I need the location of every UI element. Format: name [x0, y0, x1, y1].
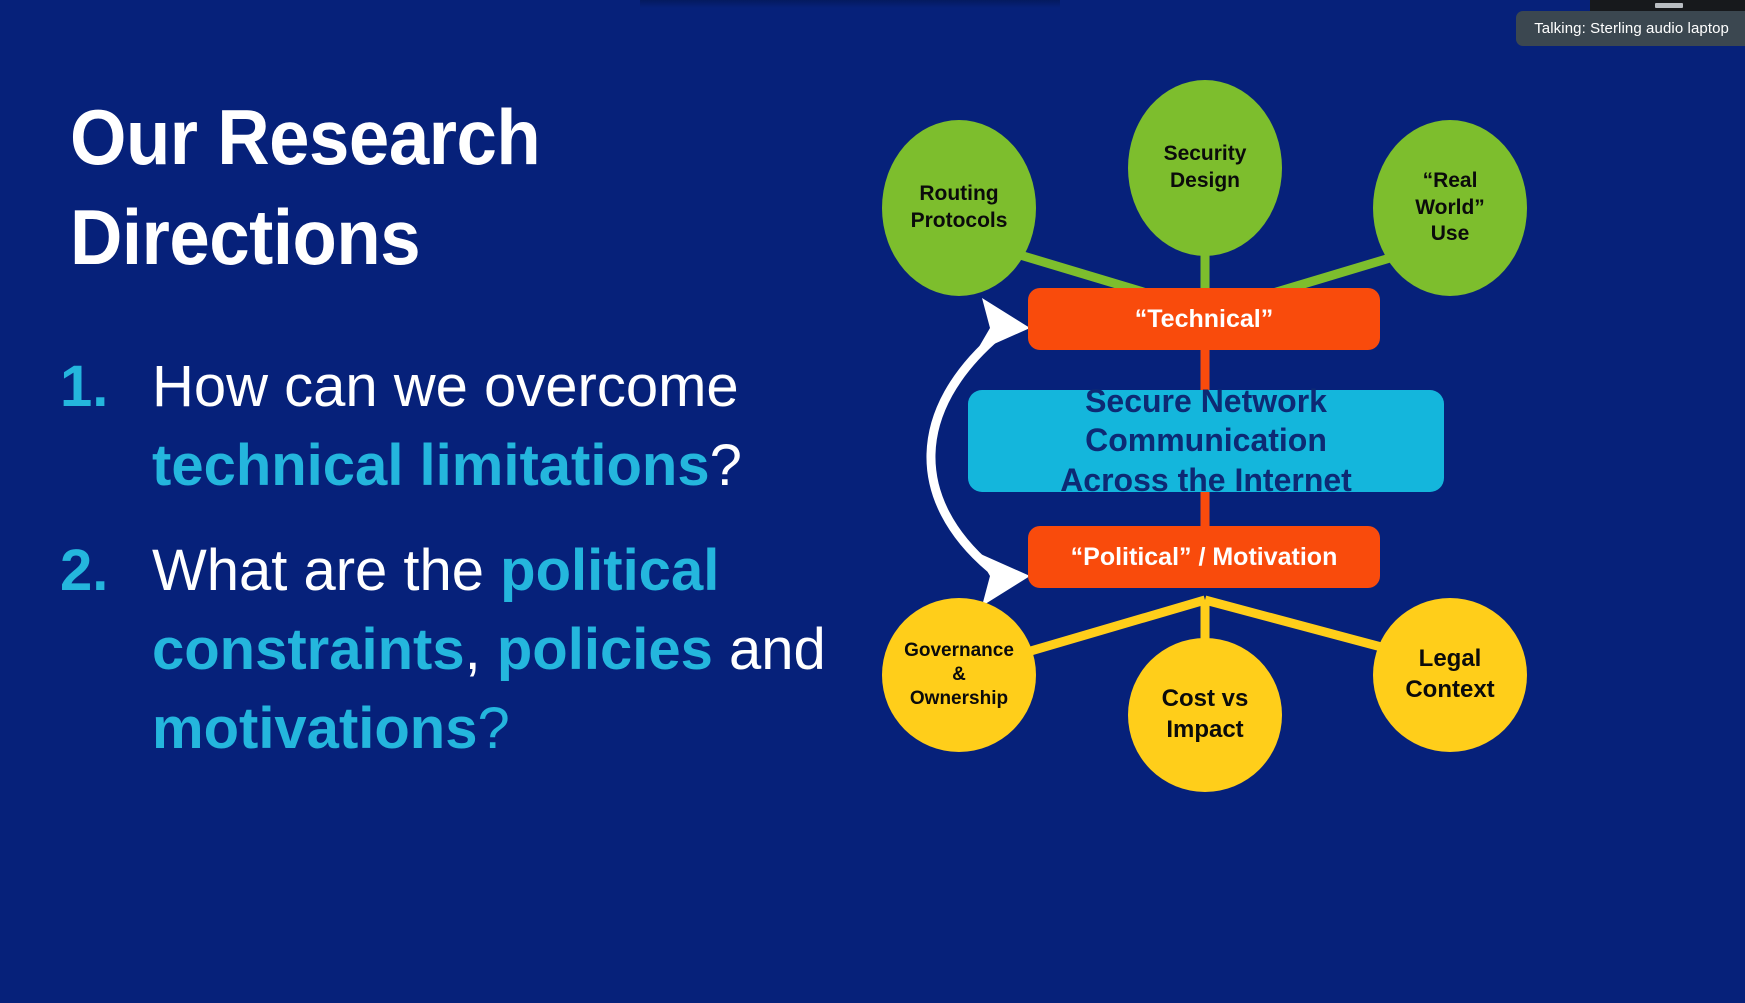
box-label-line-1: Secure Network Communication	[968, 382, 1444, 460]
node-label-line-1: Cost vs	[1162, 684, 1249, 715]
node-label-line-2: Design	[1164, 168, 1247, 195]
box-label: “Political” / Motivation	[1071, 543, 1338, 572]
node-label-line-1: Legal	[1405, 644, 1494, 675]
more-dots-icon[interactable]	[1655, 3, 1683, 8]
node-label-line-3: Ownership	[904, 687, 1014, 711]
node-label-line-1: Security	[1164, 141, 1247, 168]
list-item-text-part: ?	[710, 433, 742, 498]
list-item-text-question-mark: ?	[478, 696, 510, 761]
list-item-text-highlight: technical limitations	[152, 433, 710, 498]
list-item: 2. What are the political constraints, p…	[60, 532, 860, 769]
diagram-node-security-design[interactable]: Security Design	[1128, 80, 1282, 256]
box-label: “Technical”	[1135, 305, 1273, 334]
list-item-text-part: How can we overcome	[152, 354, 739, 419]
list-item: 1. How can we overcome technical limitat…	[60, 348, 860, 506]
diagram-node-governance-ownership[interactable]: Governance & Ownership	[882, 598, 1036, 752]
diagram-node-real-world-use[interactable]: “Real World” Use	[1373, 120, 1527, 296]
talking-indicator-pill: Talking: Sterling audio laptop	[1516, 11, 1745, 46]
diagram-box-secure-network-communication[interactable]: Secure Network Communication Across the …	[968, 390, 1444, 492]
diagram-node-legal-context[interactable]: Legal Context	[1373, 598, 1527, 752]
node-label-line-1: “Real	[1415, 168, 1485, 195]
diagram-node-routing-protocols[interactable]: Routing Protocols	[882, 120, 1036, 296]
diagram-node-cost-vs-impact[interactable]: Cost vs Impact	[1128, 638, 1282, 792]
page-title-line-1: Our Research	[70, 88, 647, 188]
list-item-text: What are the political constraints, poli…	[152, 532, 860, 769]
diagram-box-political-motivation[interactable]: “Political” / Motivation	[1028, 526, 1380, 588]
node-label-line-3: Use	[1415, 221, 1485, 248]
node-label-line-2: Protocols	[911, 208, 1008, 235]
list-item-number: 1.	[60, 348, 152, 427]
list-item-number: 2.	[60, 532, 152, 611]
list-item-text-part: ,	[465, 617, 497, 682]
page-title: Our Research Directions	[70, 88, 647, 288]
window-top-edge-strip	[640, 0, 1060, 8]
node-label-line-1: Governance	[904, 639, 1014, 663]
list-item-text-highlight: policies	[497, 617, 713, 682]
node-label-line-2: Context	[1405, 675, 1494, 706]
presentation-slide-window: Talking: Sterling audio laptop Our Resea…	[0, 0, 1745, 1003]
list-item-text-part: What are the	[152, 538, 500, 603]
node-label-line-2: Impact	[1162, 715, 1249, 746]
diagram-box-technical[interactable]: “Technical”	[1028, 288, 1380, 350]
research-directions-list: 1. How can we overcome technical limitat…	[60, 348, 860, 794]
list-item-text: How can we overcome technical limitation…	[152, 348, 860, 506]
box-label-line-2: Across the Internet	[968, 461, 1444, 500]
node-label-line-2: &	[904, 663, 1014, 687]
list-item-text-highlight: motivations	[152, 696, 478, 761]
node-label-line-2: World”	[1415, 195, 1485, 222]
talking-indicator-label: Talking: Sterling audio laptop	[1534, 20, 1729, 37]
node-label-line-1: Routing	[911, 181, 1008, 208]
list-item-text-part: and	[713, 617, 826, 682]
page-title-line-2: Directions	[70, 188, 647, 288]
research-framework-diagram: Routing Protocols Security Design “Real …	[870, 60, 1730, 870]
